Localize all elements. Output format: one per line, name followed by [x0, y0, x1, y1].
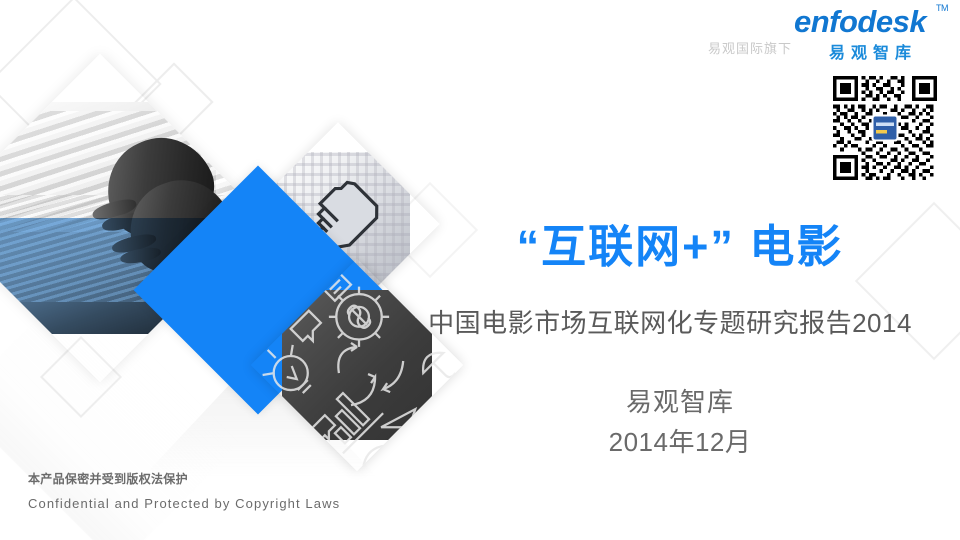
confidential-notice-en: Confidential and Protected by Copyright … — [28, 496, 340, 511]
organization-name: 易观智库 — [430, 382, 930, 419]
enfodesk-logo[interactable]: enfodesk TM 易观智库 — [794, 6, 946, 64]
confidential-notice-cn: 本产品保密并受到版权法保护 — [28, 470, 188, 487]
page-title: “互联网+” 电影 — [430, 222, 930, 272]
image-collage — [0, 0, 470, 480]
page-subtitle: 中国电影市场互联网化专题研究报告2014 — [400, 303, 940, 340]
header: 易观国际旗下 enfodesk TM 易观智库 — [630, 0, 960, 80]
publication-date: 2014年12月 — [430, 422, 930, 459]
logo-latin-wordmark: enfodesk TM — [794, 6, 946, 37]
logo-chinese-wordmark: 易观智库 — [794, 39, 946, 63]
logo-trademark-mark: TM — [936, 4, 948, 13]
logo-latin-text: enfodesk — [794, 4, 926, 39]
title-slide: 易观国际旗下 enfodesk TM 易观智库 — [0, 0, 960, 540]
sub-brand-label: 易观国际旗下 — [708, 38, 792, 57]
qr-code[interactable] — [826, 76, 944, 180]
